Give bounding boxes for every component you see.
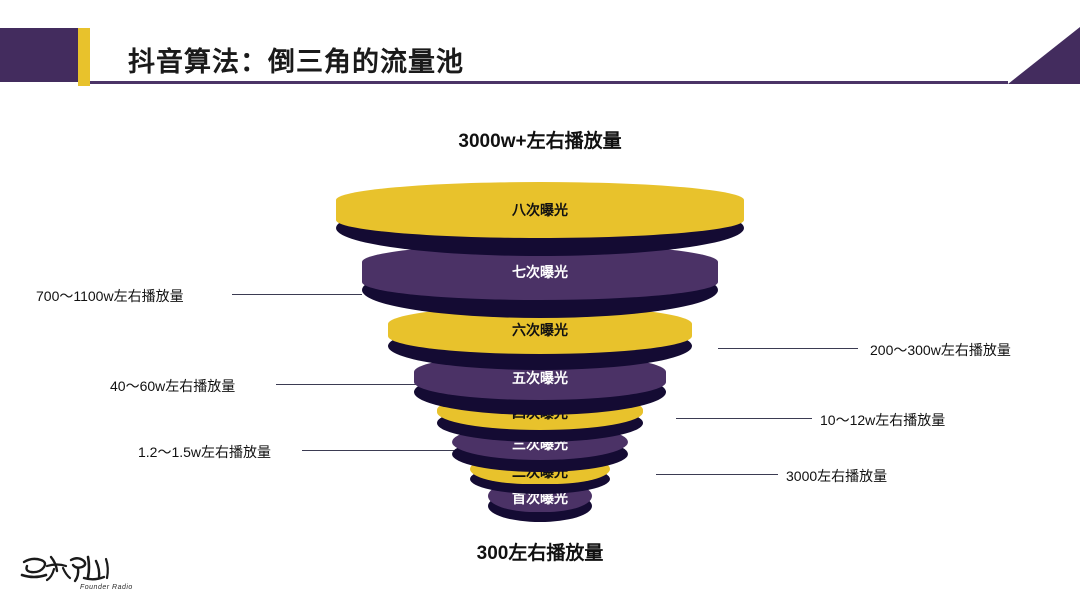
callout-line-left-3 (302, 450, 462, 451)
funnel-layer-8[interactable]: 八次曝光 (336, 182, 744, 244)
brand-logo-subtitle: Founder Radio (80, 584, 133, 591)
funnel-top-caption: 3000w+左右播放量 (0, 126, 1080, 153)
callout-line-right-3 (656, 474, 778, 475)
callout-label-left-1: 700～1100w左右播放量 (36, 286, 184, 306)
callout-label-right-3: 3000左右播放量 (786, 466, 887, 486)
callout-label-right-1: 200～300w左右播放量 (870, 340, 1011, 360)
brand-logo: Founder Radio (18, 548, 138, 598)
callout-line-right-2 (676, 418, 812, 419)
funnel-diagram: 3000w+左右播放量 八次曝光 七次曝光 六次曝光 五次曝光 四次曝光 (0, 0, 1080, 608)
callout-line-left-1 (232, 294, 362, 295)
funnel-layer-7-label: 七次曝光 (362, 262, 718, 282)
funnel-bottom-caption: 300左右播放量 (0, 538, 1080, 565)
funnel-layer-6-label: 六次曝光 (388, 320, 692, 340)
callout-label-left-3: 1.2～1.5w左右播放量 (138, 442, 271, 462)
funnel-layer-8-label: 八次曝光 (336, 200, 744, 220)
callout-line-right-1 (718, 348, 858, 349)
callout-label-right-2: 10～12w左右播放量 (820, 410, 945, 430)
callout-line-left-2 (276, 384, 428, 385)
callout-label-left-2: 40～60w左右播放量 (110, 376, 235, 396)
funnel-layer-5-label: 五次曝光 (414, 368, 666, 388)
